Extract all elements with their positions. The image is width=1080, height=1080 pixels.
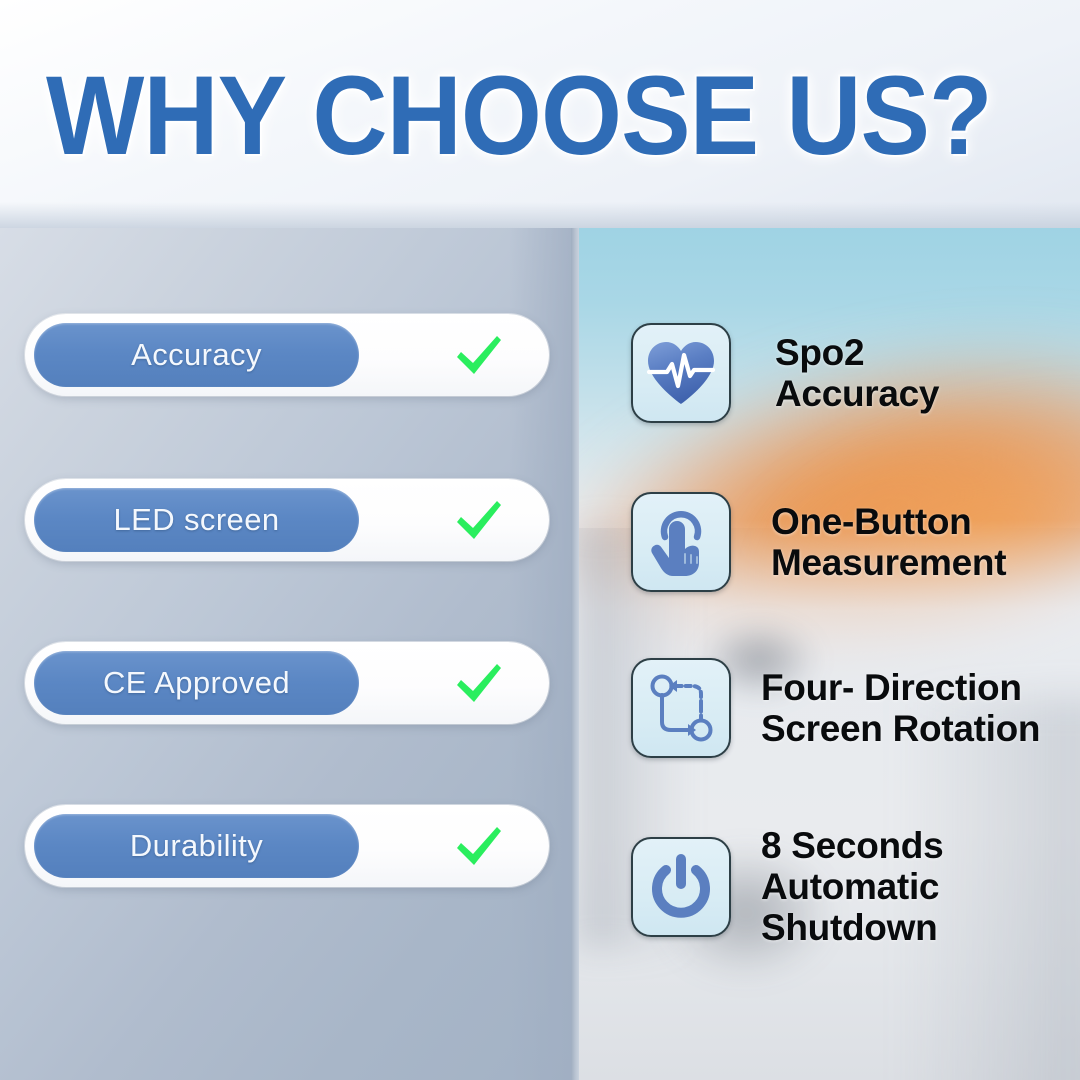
list-item: LED screen bbox=[25, 479, 549, 561]
check-icon bbox=[453, 823, 503, 869]
benefit-label: CE Approved bbox=[103, 665, 290, 701]
list-item: 8 Seconds Automatic Shutdown bbox=[631, 825, 943, 948]
features-panel: Spo2 Accuracy One-Button Measurement bbox=[579, 228, 1080, 1080]
header-banner: WHY CHOOSE US? bbox=[0, 0, 1080, 228]
feature-label: Spo2 Accuracy bbox=[775, 332, 939, 414]
feature-label: One-Button Measurement bbox=[771, 501, 1006, 583]
benefit-label: Durability bbox=[130, 828, 263, 864]
power-icon bbox=[631, 837, 731, 937]
benefit-chip: Accuracy bbox=[34, 323, 359, 387]
benefit-chip: CE Approved bbox=[34, 651, 359, 715]
benefit-chip: Durability bbox=[34, 814, 359, 878]
heart-pulse-icon bbox=[631, 323, 731, 423]
page-title: WHY CHOOSE US? bbox=[46, 62, 939, 170]
feature-label: 8 Seconds Automatic Shutdown bbox=[761, 825, 943, 948]
benefit-label: LED screen bbox=[114, 502, 280, 538]
tap-hand-icon bbox=[631, 492, 731, 592]
infographic-canvas: WHY CHOOSE US? Accuracy LED screen bbox=[0, 0, 1080, 1080]
list-item: Durability bbox=[25, 805, 549, 887]
benefit-chip: LED screen bbox=[34, 488, 359, 552]
check-icon bbox=[453, 332, 503, 378]
benefits-list: Accuracy LED screen CE Approved bbox=[0, 228, 571, 1080]
check-icon bbox=[453, 660, 503, 706]
check-icon bbox=[453, 497, 503, 543]
list-item: CE Approved bbox=[25, 642, 549, 724]
panel-divider bbox=[571, 228, 579, 1080]
list-item: Spo2 Accuracy bbox=[631, 323, 939, 423]
benefits-panel: Accuracy LED screen CE Approved bbox=[0, 228, 571, 1080]
list-item: Four- Direction Screen Rotation bbox=[631, 658, 1040, 758]
list-item: Accuracy bbox=[25, 314, 549, 396]
features-list: Spo2 Accuracy One-Button Measurement bbox=[579, 228, 1080, 1080]
list-item: One-Button Measurement bbox=[631, 492, 1006, 592]
benefit-label: Accuracy bbox=[131, 337, 262, 373]
feature-label: Four- Direction Screen Rotation bbox=[761, 667, 1040, 749]
screen-rotation-icon bbox=[631, 658, 731, 758]
